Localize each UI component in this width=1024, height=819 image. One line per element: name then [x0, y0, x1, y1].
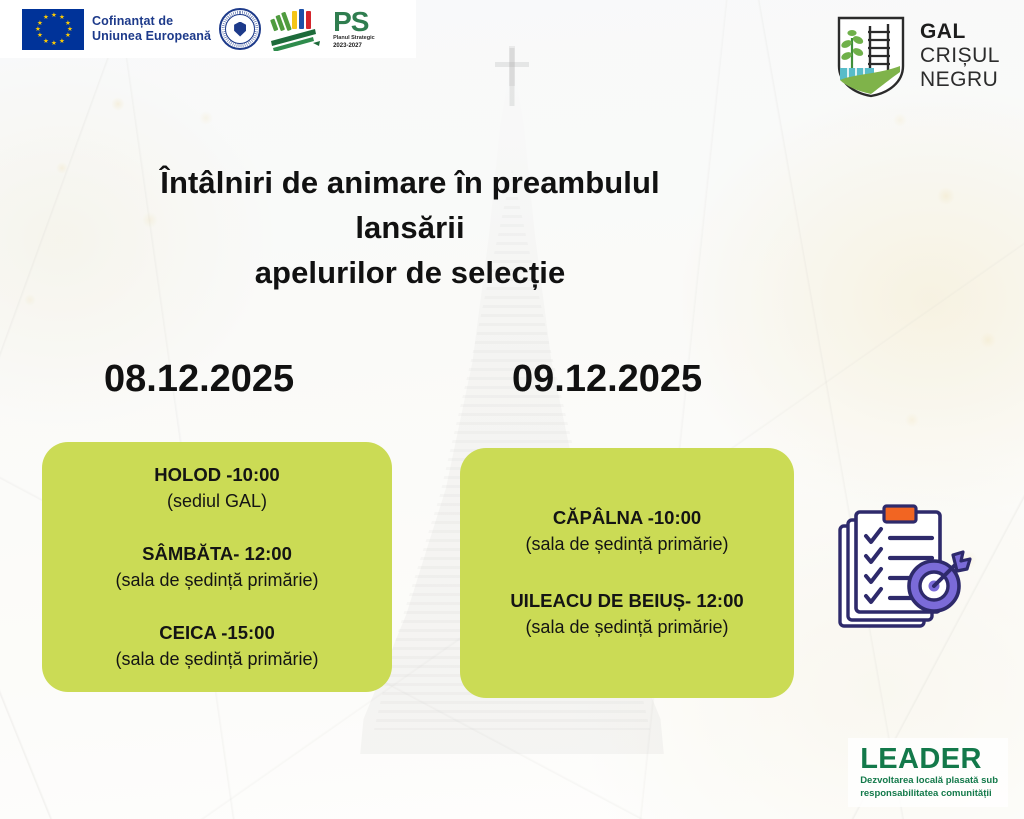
leader-subtitle-line-2: responsabilitatea comunității: [860, 787, 998, 800]
title-line-3: apelurilor de selecție: [60, 250, 760, 295]
date-heading-day-2: 09.12.2025: [512, 358, 702, 401]
entry-venue: (sala de ședință primărie): [115, 646, 318, 673]
gal-wordmark: GAL CRIȘUL NEGRU: [920, 20, 1000, 92]
title-line-2: lansării: [60, 205, 760, 250]
entry-title: HOLOD -10:00: [154, 462, 279, 488]
ps-subtitle: Planul Strategic: [333, 35, 375, 42]
gal-shield-icon: [834, 14, 908, 98]
schedule-card-day-1: HOLOD -10:00 (sediul GAL) SÂMBĂTA- 12:00…: [42, 442, 392, 692]
planul-strategic-logo: PS Planul Strategic 2023-2027: [333, 9, 375, 50]
gal-line-2: CRIȘUL: [920, 44, 1000, 68]
gal-logo: GAL CRIȘUL NEGRU: [834, 14, 1000, 98]
leader-logo: LEADER Dezvoltarea locală plasată sub re…: [848, 738, 1008, 807]
schedule-entry: HOLOD -10:00 (sediul GAL): [154, 462, 279, 515]
eu-text-line2: Uniunea Europeană: [92, 29, 211, 44]
schedule-card-day-2: CĂPÂLNA -10:00 (sala de ședință primărie…: [460, 448, 794, 698]
page-title: Întâlniri de animare în preambulul lansă…: [60, 160, 760, 295]
entry-venue: (sala de ședință primărie): [525, 531, 728, 558]
entry-title: CEICA -15:00: [115, 620, 318, 646]
leader-subtitle-line-1: Dezvoltarea locală plasată sub: [860, 774, 998, 787]
entry-venue: (sediul GAL): [154, 488, 279, 515]
schedule-entry: CEICA -15:00 (sala de ședință primărie): [115, 620, 318, 673]
entry-venue: (sala de ședință primărie): [510, 614, 743, 641]
gal-line-1: GAL: [920, 20, 1000, 44]
ps-mark: PS: [333, 9, 375, 35]
madr-logo-icon: [269, 7, 325, 51]
guvernul-romaniei-seal-icon: [219, 8, 261, 50]
schedule-entry: UILEACU DE BEIUȘ- 12:00 (sala de ședință…: [510, 588, 743, 641]
title-line-1: Întâlniri de animare în preambulul: [60, 160, 760, 205]
eu-cofinancing-text: Cofinanțat de Uniunea Europeană: [92, 14, 211, 44]
entry-title: UILEACU DE BEIUȘ- 12:00: [510, 588, 743, 614]
leader-wordmark: LEADER: [860, 744, 998, 774]
entry-venue: (sala de ședință primărie): [115, 567, 318, 594]
clipboard-checklist-target-icon: [834, 498, 984, 640]
entry-title: CĂPÂLNA -10:00: [525, 505, 728, 531]
date-heading-day-1: 08.12.2025: [104, 358, 294, 401]
eu-flag-icon: [22, 9, 84, 50]
entry-title: SÂMBĂTA- 12:00: [115, 541, 318, 567]
eu-text-line1: Cofinanțat de: [92, 14, 211, 29]
gal-line-3: NEGRU: [920, 68, 1000, 92]
ps-years: 2023-2027: [333, 42, 375, 50]
funding-logo-strip: Cofinanțat de Uniunea Europeană PS Planu…: [0, 0, 416, 58]
schedule-entry: CĂPÂLNA -10:00 (sala de ședință primărie…: [525, 505, 728, 558]
schedule-entry: SÂMBĂTA- 12:00 (sala de ședință primărie…: [115, 541, 318, 594]
